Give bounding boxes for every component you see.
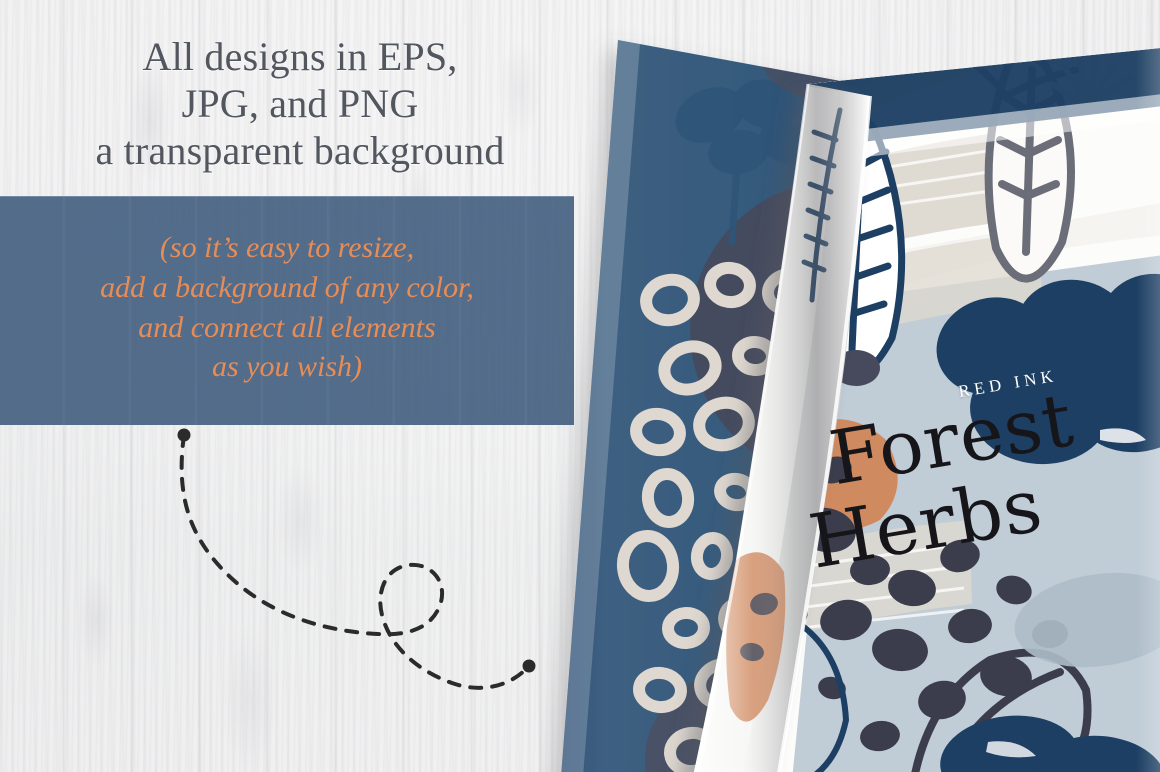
banner-line-2: add a background of any color, bbox=[8, 268, 566, 308]
dashed-curve-decoration bbox=[140, 415, 590, 695]
headline-line-3: a transparent background bbox=[0, 128, 600, 175]
banner-line-3: and connect all elements bbox=[8, 308, 566, 348]
info-banner: (so it’s easy to resize, add a backgroun… bbox=[0, 196, 574, 425]
headline: All designs in EPS, JPG, and PNG a trans… bbox=[0, 34, 600, 174]
poster-canvas: RED INK Forest Herbs All designs in EPS,… bbox=[0, 0, 1160, 772]
headline-line-2: JPG, and PNG bbox=[0, 81, 600, 128]
book-mockup: RED INK Forest Herbs bbox=[540, 0, 1160, 772]
headline-line-1: All designs in EPS, bbox=[0, 34, 600, 81]
banner-line-1: (so it’s easy to resize, bbox=[8, 228, 566, 268]
banner-line-4: as you wish) bbox=[8, 347, 566, 387]
dashed-path-end-dot bbox=[523, 660, 536, 673]
dashed-path-start-dot bbox=[178, 429, 191, 442]
banner-text: (so it’s easy to resize, add a backgroun… bbox=[0, 196, 574, 425]
